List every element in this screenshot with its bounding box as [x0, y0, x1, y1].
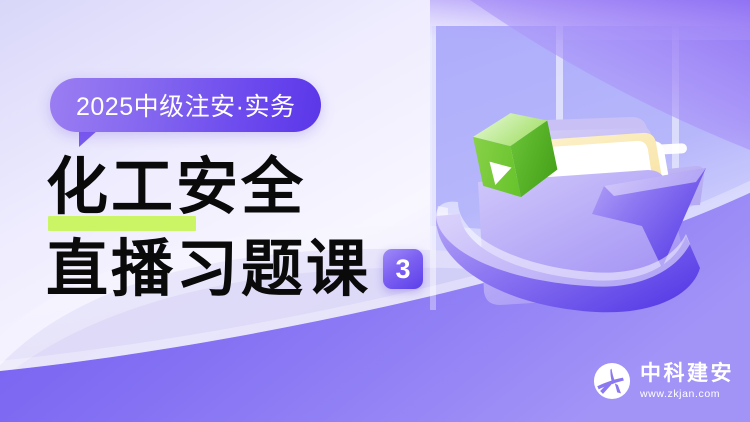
zkjan-logo-icon [593, 362, 631, 400]
headline-line-1: 化工安全 [46, 150, 423, 224]
folder-illustration [400, 0, 750, 350]
headline-line-2: 直播习题课 3 [46, 232, 423, 306]
episode-number-badge: 3 [383, 249, 423, 289]
headline-line-1-text: 化工安全 [46, 150, 306, 223]
brand-url: www.zkjan.com [640, 389, 734, 400]
headline-block: 化工安全 直播习题课 3 [46, 150, 423, 306]
course-poster: 2025中级注安·实务 化工安全 直播习题课 3 中科建安 www.zkjan.… [0, 0, 750, 422]
course-category-badge: 2025中级注安·实务 [50, 78, 321, 132]
badge-tail [79, 130, 98, 147]
headline-line-2-text: 直播习题课 [46, 232, 371, 306]
brand-logo: 中科建安 www.zkjan.com [593, 362, 734, 400]
logo-text-block: 中科建安 www.zkjan.com [640, 363, 734, 400]
brand-name-cn: 中科建安 [640, 363, 734, 384]
badge-label: 2025中级注安·实务 [76, 87, 295, 123]
